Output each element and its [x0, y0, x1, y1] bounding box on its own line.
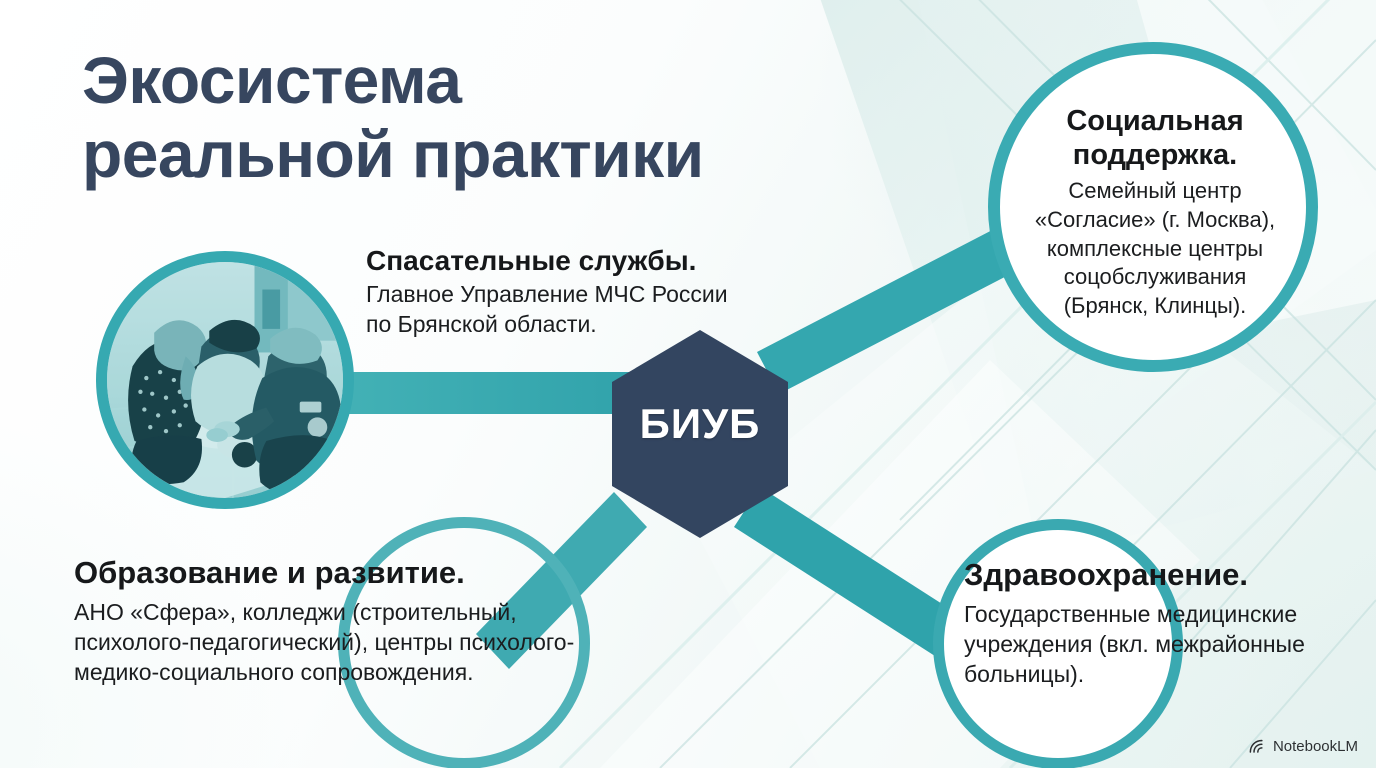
node-rescue-body: Главное Управление МЧС России по Брянско…	[366, 280, 786, 340]
node-social-body: Семейный центр «Согласие» (г. Москва), к…	[1016, 177, 1294, 320]
page-title: Экосистема реальной практики	[82, 44, 902, 192]
first-aid-training-photo	[107, 262, 343, 498]
node-education-body: АНО «Сфера», колледжи (строительный, пси…	[74, 598, 674, 688]
node-rescue-services: Спасательные службы. Главное Управление …	[366, 245, 786, 340]
node-healthcare: Здравоохранение. Государственные медицин…	[964, 557, 1364, 690]
node-education: Образование и развитие. АНО «Сфера», кол…	[74, 555, 674, 688]
node-healthcare-heading: Здравоохранение.	[964, 557, 1364, 592]
node-social-heading: Социальная поддержка.	[1016, 104, 1294, 172]
center-hexagon-label: БИУБ	[600, 400, 800, 448]
connector-social	[757, 226, 1022, 394]
notebooklm-logo-icon	[1248, 737, 1267, 756]
node-education-heading: Образование и развитие.	[74, 555, 674, 590]
node-rescue-heading: Спасательные службы.	[366, 245, 786, 277]
infographic-slide: Экосистема реальной практики БИУБ Спасат…	[0, 0, 1376, 768]
notebooklm-watermark: NotebookLM	[1248, 737, 1358, 756]
photo-circle-first-aid-training	[96, 251, 354, 509]
notebooklm-label: NotebookLM	[1273, 738, 1358, 755]
node-social-support: Социальная поддержка. Семейный центр «Со…	[1016, 104, 1294, 320]
node-healthcare-body: Государственные медицинские учреждения (…	[964, 600, 1364, 690]
